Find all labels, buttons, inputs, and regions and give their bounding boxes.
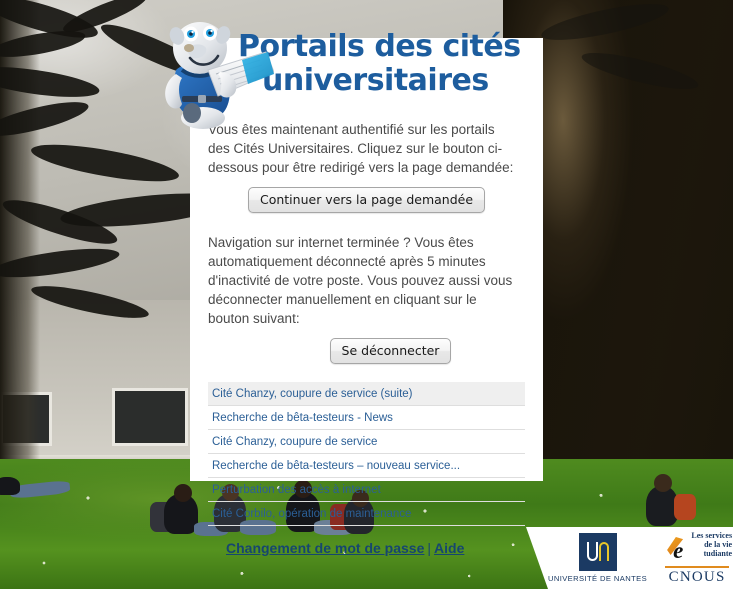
background-student [0, 475, 70, 501]
background-window [112, 388, 188, 446]
logout-button[interactable]: Se déconnecter [330, 338, 452, 364]
page-title-line-2: universitaires [262, 64, 538, 98]
news-item[interactable]: Recherche de bêta-testeurs – nouveau ser… [208, 454, 525, 478]
help-link[interactable]: Aide [434, 540, 464, 556]
continue-button[interactable]: Continuer vers la page demandée [248, 187, 485, 213]
cnous-wordmark: CNOUS [669, 569, 726, 585]
cnous-tagline-line-1: Les services [691, 531, 732, 540]
continue-button-row: Continuer vers la page demandée [208, 187, 525, 213]
news-item[interactable]: Cité Chanzy, coupure de service (suite) [208, 382, 525, 406]
footer-link-separator: | [424, 540, 434, 556]
page-root: Vous êtes maintenant authentifié sur les… [0, 0, 733, 589]
page-title: Portails des cités universitaires [238, 30, 538, 98]
news-list: Cité Chanzy, coupure de service (suite) … [208, 382, 525, 526]
cnous-rule [665, 566, 729, 568]
news-item[interactable]: Cité Corbilo, opération de maintenance [208, 502, 525, 526]
news-item[interactable]: Perturbation des accès à internet [208, 478, 525, 502]
logout-info-message: Navigation sur internet terminée ? Vous … [208, 233, 520, 328]
cnous-monogram: e [673, 539, 683, 562]
page-title-line-1: Portails des cités [238, 30, 538, 64]
universite-de-nantes-name: UNIVERSITÉ DE NANTES [548, 574, 647, 583]
background-student [640, 478, 710, 534]
cnous-mark-icon: e Les services de la vie tudiante [661, 531, 733, 565]
universite-de-nantes-logo: UNIVERSITÉ DE NANTES [548, 533, 647, 583]
cnous-logo: e Les services de la vie tudiante CNOUS [661, 531, 733, 585]
news-item[interactable]: Cité Chanzy, coupure de service [208, 430, 525, 454]
panel-content: Vous êtes maintenant authentifié sur les… [190, 58, 543, 556]
footer-links: Changement de mot de passe|Aide [208, 540, 525, 556]
news-item[interactable]: Recherche de bêta-testeurs - News [208, 406, 525, 430]
logo-bar: UNIVERSITÉ DE NANTES e Les services de l… [548, 527, 733, 589]
change-password-link[interactable]: Changement de mot de passe [226, 540, 424, 556]
cnous-tagline-line-2: de la vie [691, 540, 732, 549]
mascot-character-with-laptop-icon [146, 14, 274, 132]
logout-button-row: Se déconnecter [208, 338, 525, 364]
universite-de-nantes-mark-icon [579, 533, 617, 571]
cnous-tagline-line-3: tudiante [691, 549, 732, 558]
